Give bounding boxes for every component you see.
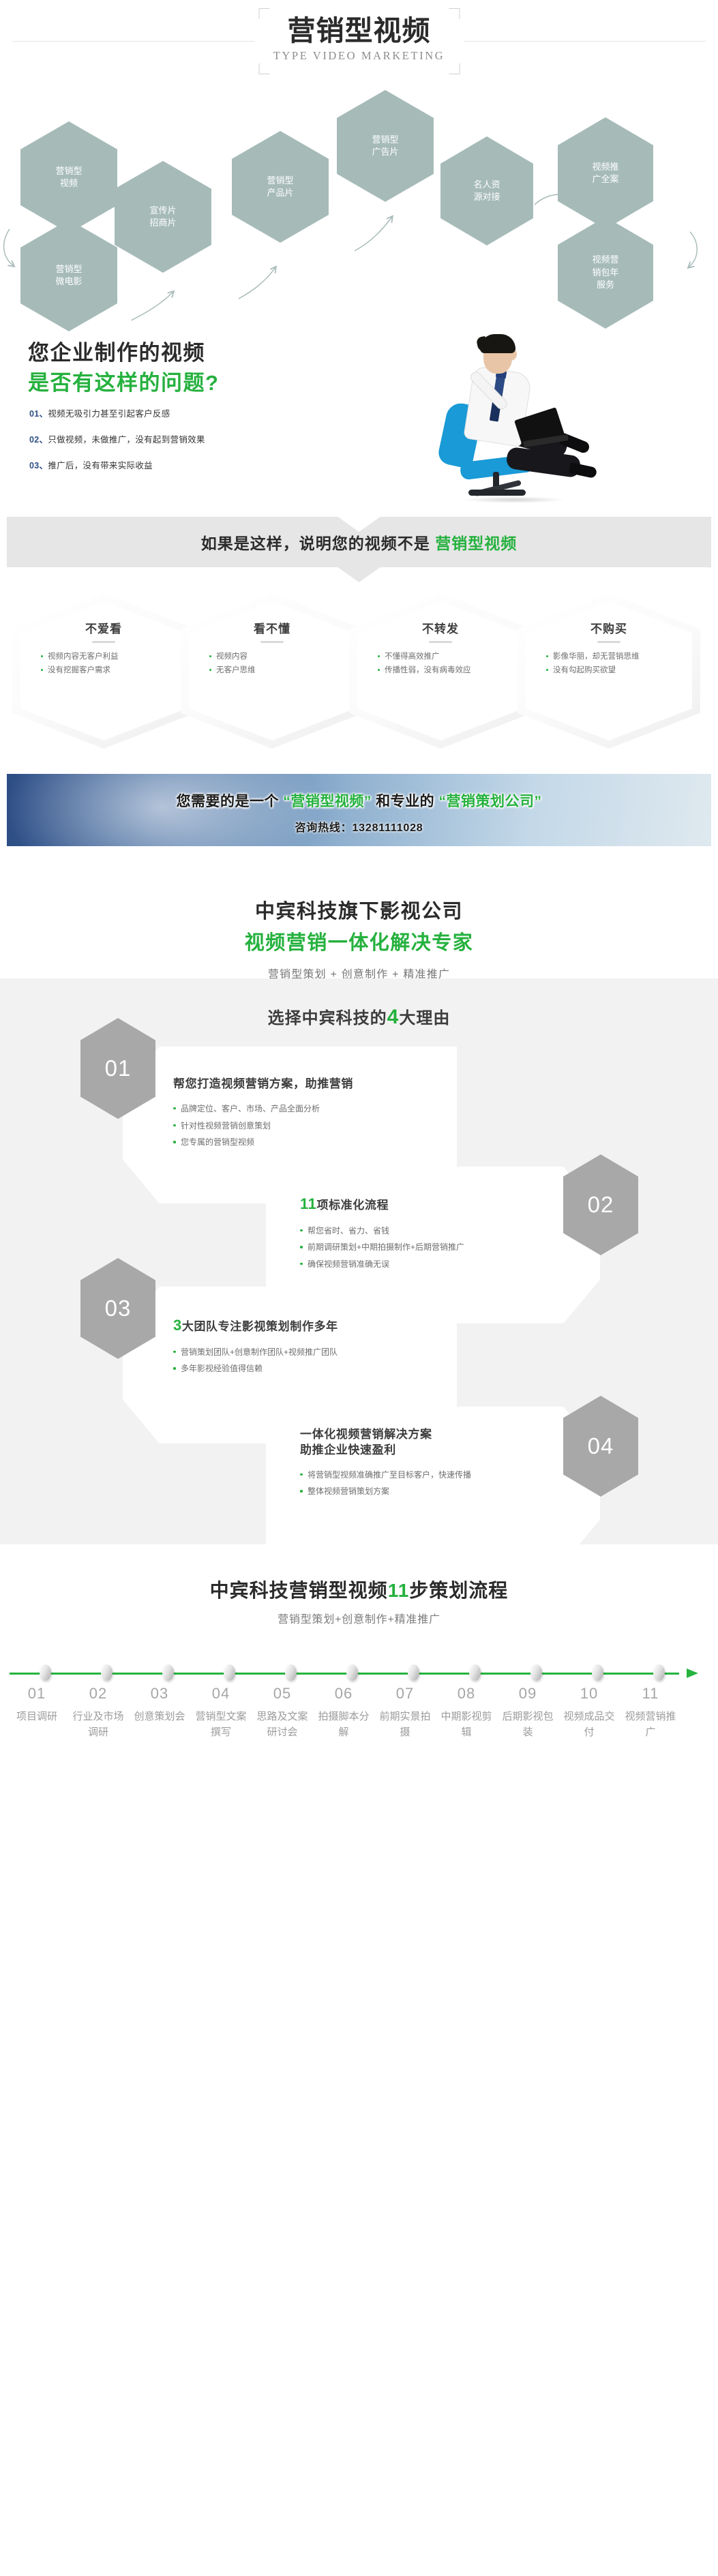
problem-section: 您企业制作的视频 是否有这样的问题? 01、视频无吸引力甚至引起客户反感 02、…: [0, 320, 718, 511]
cta-banner-section: 您需要的是一个 “营销型视频” 和专业的 “营销策划公司” 咨询热线：13281…: [0, 774, 718, 876]
flow-step-label: 视频成品交付: [560, 1709, 618, 1740]
divider: [260, 641, 284, 643]
hex-service-label: 宣传片 招商片: [147, 205, 179, 230]
reason-badge-number: 01: [105, 1055, 132, 1081]
problem-item-num: 01、: [29, 409, 48, 419]
reason-card-title: 11项标准化流程: [300, 1194, 573, 1214]
hex-service-label: 视频营 销包年 服务: [589, 254, 621, 291]
corner-bracket-icon: [449, 63, 460, 74]
flow-arrow-icon: [687, 1668, 698, 1678]
flow-step-number: 07: [376, 1685, 434, 1703]
problem-item-text: 推广后，没有带来实际收益: [48, 461, 153, 470]
problem-headline-1: 您企业制作的视频: [28, 335, 205, 366]
list-item: 传播性弱，没有病毒效应: [378, 664, 503, 678]
reason-title-tail: 大团队专注影视策划制作多年: [182, 1320, 338, 1333]
reason-title-tail: 助推企业快速盈利: [300, 1443, 396, 1456]
page-subtitle: TYPE VIDEO MARKETING: [258, 49, 460, 63]
problem-item-text: 只做视频，未做推广，没有起到营销效果: [48, 435, 205, 445]
list-item: 品牌定位、客户、市场、产品全面分析: [173, 1100, 439, 1118]
divider: [597, 641, 620, 643]
cta-quote-1: “营销型视频”: [283, 794, 372, 809]
process-flow-section: 中宾科技营销型视频11步策划流程 营销型策划+创意制作+精准推广 01 项目调研…: [0, 1544, 718, 1872]
flow-node[interactable]: [224, 1664, 235, 1681]
problem-item-text: 视频无吸引力甚至引起客户反感: [48, 409, 170, 419]
flow-step-5[interactable]: 05 思路及文案研讨会: [254, 1685, 311, 1740]
divider: [92, 641, 115, 643]
flow-step-number: 03: [131, 1685, 188, 1703]
flow-step-label: 后期影视包装: [499, 1709, 556, 1740]
cta-banner: 您需要的是一个 “营销型视频” 和专业的 “营销策划公司” 咨询热线：13281…: [7, 774, 711, 846]
cta-quote-2: “营销策划公司”: [439, 794, 542, 809]
hex-service-label: 营销型 视频: [53, 165, 85, 190]
flow-step-number: 06: [315, 1685, 372, 1703]
list-item: 整体视频营销策划方案: [300, 1483, 575, 1500]
flow-step-number: 11: [622, 1685, 679, 1703]
flow-step-number: 01: [8, 1685, 65, 1703]
flow-heading: 中宾科技营销型视频11步策划流程: [0, 1544, 718, 1603]
flow-step-label: 思路及文案研讨会: [254, 1709, 311, 1740]
reason-badge-number: 03: [105, 1296, 132, 1321]
flow-node[interactable]: [530, 1664, 542, 1681]
hex-service-8[interactable]: 视频营 销包年 服务: [558, 217, 653, 329]
hex-service-2[interactable]: 营销型 微电影: [20, 220, 117, 331]
reason-title-tail: 项标准化流程: [316, 1199, 389, 1212]
problem-item: 02、只做视频，未做推广，没有起到营销效果: [29, 432, 205, 445]
flow-step-label: 拍摄脚本分解: [315, 1709, 372, 1740]
header-title-box: 营销型视频 TYPE VIDEO MARKETING: [258, 8, 460, 74]
cta-text-b: 和专业的: [372, 794, 439, 809]
list-item: 没有勾起购买欲望: [546, 664, 672, 678]
hex-service-4[interactable]: 营销型 产品片: [232, 131, 329, 243]
list-item: 针对性视频营销创意策划: [173, 1118, 439, 1135]
list-item: 确保视频营销准确无误: [300, 1256, 573, 1273]
corner-bracket-icon: [449, 8, 460, 19]
header-rule-left: [12, 41, 254, 42]
flow-step-7[interactable]: 07 前期实景拍摄: [376, 1685, 434, 1740]
flow-step-4[interactable]: 04 营销型文案撰写: [192, 1685, 250, 1740]
flow-step-6[interactable]: 06 拍摄脚本分解: [315, 1685, 372, 1740]
flow-step-number: 04: [192, 1685, 250, 1703]
pain-card-bullets: 视频内容 无客户思维: [189, 650, 355, 677]
reason-card-4[interactable]: 一体化视频营销解决方案 助推企业快速盈利 将营销型视频准确推广至目标客户，快速传…: [266, 1407, 600, 1563]
flow-step-label: 视频营销推广: [622, 1709, 679, 1740]
flow-step-number: 08: [438, 1685, 495, 1703]
flow-step-label: 中期影视剪辑: [438, 1709, 495, 1740]
ribbon-notch-top-icon: [338, 517, 380, 532]
hex-service-label: 营销型 广告片: [369, 134, 401, 159]
hex-service-5[interactable]: 营销型 广告片: [337, 90, 434, 202]
ribbon-notch-bottom-icon: [338, 567, 380, 582]
list-item: 帮您省时、省力、省钱: [300, 1223, 573, 1240]
pain-card-1[interactable]: 不爱看 视频内容无客户利益 没有挖掘客户需求: [12, 593, 195, 749]
flow-step-3[interactable]: 03 创意策划会: [131, 1685, 188, 1725]
hex-service-7[interactable]: 视频推 广全案: [558, 117, 653, 229]
flow-step-number: 10: [560, 1685, 618, 1703]
reason-card-bullets: 将营销型视频准确推广至目标客户，快速传播 整体视频营销策划方案: [300, 1467, 575, 1500]
list-item: 营销策划团队+创意制作团队+视频推广团队: [173, 1344, 443, 1361]
reason-card-title: 3大团队专注影视策划制作多年: [173, 1315, 443, 1336]
flow-step-label: 项目调研: [8, 1709, 65, 1725]
landing-page: 营销型视频 TYPE VIDEO MARKETING 营销型 视频: [0, 0, 718, 2576]
list-item: 视频内容无客户利益: [41, 650, 166, 664]
flow-node[interactable]: [408, 1664, 419, 1681]
pain-card-3[interactable]: 不转发 不懂得高效推广 传播性弱，没有病毒效应: [349, 593, 532, 749]
company-title-section: 中宾科技旗下影视公司 视频营销一体化解决专家 营销型策划 + 创意制作 + 精准…: [0, 876, 718, 978]
flow-node[interactable]: [162, 1664, 174, 1681]
service-hex-flow: 营销型 视频 营销型 微电影 宣传片 招商片 营销型 产品片 营销型 广告片 名…: [0, 95, 718, 320]
ribbon-section: 如果是这样，说明您的视频不是 营销型视频: [0, 517, 718, 584]
pain-cards-section: 不爱看 视频内容无客户利益 没有挖掘客户需求 看不懂 视频内容 无客户思维 不转…: [0, 593, 718, 753]
pain-card-2[interactable]: 看不懂 视频内容 无客户思维: [181, 593, 363, 749]
flow-node[interactable]: [592, 1664, 603, 1681]
list-item: 影像华丽，却无营销思维: [546, 650, 672, 664]
corner-bracket-icon: [258, 63, 269, 74]
ribbon-text: 如果是这样，说明您的视频不是 营销型视频: [201, 530, 517, 554]
page-title: 营销型视频: [258, 8, 460, 48]
flow-step-label: 行业及市场调研: [70, 1709, 127, 1740]
reason-card-bullets: 帮您省时、省力、省钱 前期调研策划+中期拍摄制作+后期营销推广 确保视频营销准确…: [300, 1223, 573, 1273]
flow-heading-a: 中宾科技营销型视频: [210, 1580, 388, 1601]
flow-node[interactable]: [469, 1664, 481, 1681]
flow-node[interactable]: [101, 1664, 113, 1681]
list-item: 不懂得高效推广: [378, 650, 503, 664]
hex-service-label: 视频推 广全案: [589, 161, 621, 186]
flow-heading-number: 11: [388, 1580, 410, 1601]
list-item: 将营销型视频准确推广至目标客户，快速传播: [300, 1467, 575, 1484]
page-header: 营销型视频 TYPE VIDEO MARKETING: [0, 0, 718, 95]
flow-timeline-track: [10, 1669, 698, 1677]
company-title-2: 视频营销一体化解决专家: [0, 927, 718, 955]
ribbon-text-normal: 如果是这样，说明您的视频不是: [201, 535, 435, 552]
list-item: 视频内容: [209, 650, 335, 664]
reason-title-number: 3: [173, 1317, 182, 1334]
flow-node[interactable]: [285, 1664, 297, 1681]
header-rule-right: [464, 41, 706, 42]
flow-step-label: 营销型文案撰写: [192, 1709, 250, 1740]
cta-line-1: 您需要的是一个 “营销型视频” 和专业的 “营销策划公司”: [7, 790, 711, 811]
hex-service-3[interactable]: 宣传片 招商片: [115, 161, 211, 273]
pain-card-4[interactable]: 不购买 影像华丽，却无营销思维 没有勾起购买欲望: [518, 593, 700, 749]
reason-title-number: 11: [300, 1195, 316, 1212]
flow-node[interactable]: [653, 1664, 665, 1681]
hex-service-label: 营销型 微电影: [53, 263, 85, 288]
problem-item-num: 02、: [29, 435, 48, 445]
flow-step-2[interactable]: 02 行业及市场调研: [70, 1685, 127, 1740]
hex-service-label: 名人资 源对接: [470, 179, 503, 204]
pain-card-title: 看不懂: [189, 619, 355, 636]
flow-step-1[interactable]: 01 项目调研: [8, 1685, 65, 1725]
businessman-illustration: [398, 325, 595, 507]
problem-item: 01、视频无吸引力甚至引起客户反感: [29, 406, 205, 419]
flow-step-11[interactable]: 11 视频营销推广: [622, 1685, 679, 1740]
pain-card-title: 不转发: [357, 619, 524, 636]
reason-title-plain: 一体化视频营销解决方案: [300, 1428, 432, 1441]
problem-list: 01、视频无吸引力甚至引起客户反感 02、只做视频，未做推广，没有起到营销效果 …: [29, 406, 205, 484]
flow-step-label: 创意策划会: [131, 1709, 188, 1725]
ribbon-text-highlight: 营销型视频: [435, 535, 517, 552]
cta-text-a: 您需要的是一个: [176, 794, 283, 809]
flow-step-9[interactable]: 09 后期影视包装: [499, 1685, 556, 1740]
flow-step-8[interactable]: 08 中期影视剪辑: [438, 1685, 495, 1740]
flow-heading-b: 步策划流程: [409, 1580, 508, 1601]
reason-card-bullets: 营销策划团队+创意制作团队+视频推广团队 多年影视经验值得信赖: [173, 1344, 443, 1377]
reason-badge-number: 04: [588, 1433, 614, 1459]
hex-service-1[interactable]: 营销型 视频: [20, 121, 117, 233]
hex-service-label: 营销型 产品片: [264, 175, 296, 200]
hex-service-6[interactable]: 名人资 源对接: [440, 136, 533, 245]
reasons-section: 选择中宾科技的4大理由 帮您打造视频营销方案，助推营销 品牌定位、客户、市场、产…: [0, 978, 718, 1544]
flow-node[interactable]: [40, 1664, 51, 1681]
pain-card-title: 不购买: [526, 619, 692, 636]
divider: [429, 641, 452, 643]
pain-card-title: 不爱看: [20, 619, 187, 636]
list-item: 您专属的营销型视频: [173, 1134, 439, 1151]
pain-card-bullets: 不懂得高效推广 传播性弱，没有病毒效应: [357, 650, 524, 677]
corner-bracket-icon: [258, 8, 269, 19]
cta-hotline[interactable]: 咨询热线：13281111028: [7, 818, 711, 835]
list-item: 前期调研策划+中期拍摄制作+后期营销推广: [300, 1239, 573, 1256]
reason-card-title: 帮您打造视频营销方案，助推营销: [173, 1077, 439, 1092]
reason-badge-number: 02: [588, 1192, 614, 1218]
flow-step-label: 前期实景拍摄: [376, 1709, 434, 1740]
problem-item: 03、推广后，没有带来实际收益: [29, 458, 205, 471]
ribbon-banner: 如果是这样，说明您的视频不是 营销型视频: [7, 517, 711, 567]
list-item: 多年影视经验值得信赖: [173, 1360, 443, 1377]
problem-headline-2: 是否有这样的问题?: [28, 365, 219, 396]
list-item: 无客户思维: [209, 664, 335, 678]
reason-card-title: 一体化视频营销解决方案 助推企业快速盈利: [300, 1427, 575, 1458]
flow-subtitle: 营销型策划+创意制作+精准推广: [0, 1610, 718, 1626]
list-item: 没有挖掘客户需求: [41, 664, 166, 678]
pain-card-bullets: 视频内容无客户利益 没有挖掘客户需求: [20, 650, 187, 677]
company-title-1: 中宾科技旗下影视公司: [0, 895, 718, 924]
flow-node[interactable]: [346, 1664, 358, 1681]
problem-item-num: 03、: [29, 461, 48, 470]
flow-step-number: 09: [499, 1685, 556, 1703]
flow-step-number: 02: [70, 1685, 127, 1703]
flow-step-10[interactable]: 10 视频成品交付: [560, 1685, 618, 1740]
flow-step-number: 05: [254, 1685, 311, 1703]
reason-title-plain: 帮您打造视频营销方案，助推营销: [173, 1077, 353, 1090]
reason-card-bullets: 品牌定位、客户、市场、产品全面分析 针对性视频营销创意策划 您专属的营销型视频: [173, 1100, 439, 1151]
pain-card-bullets: 影像华丽，却无营销思维 没有勾起购买欲望: [526, 650, 692, 677]
